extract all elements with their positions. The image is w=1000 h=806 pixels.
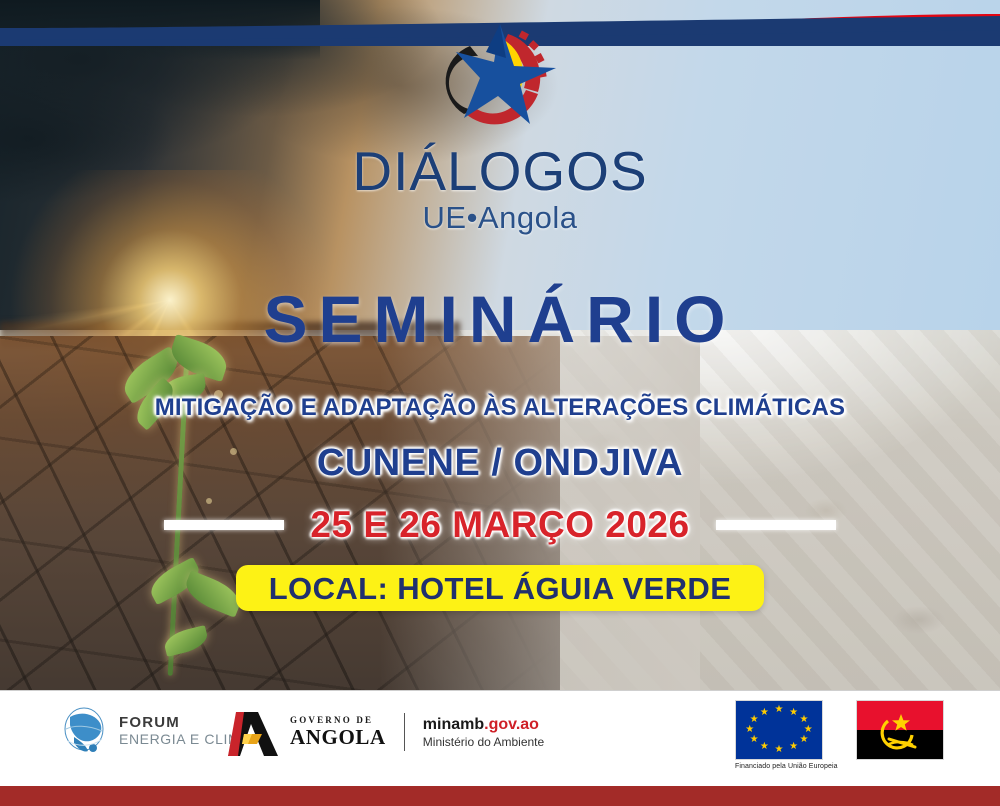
footer-bottom-bar	[0, 786, 1000, 806]
eu-star: ★	[750, 735, 759, 745]
eu-star: ★	[760, 708, 769, 718]
eu-star: ★	[745, 725, 754, 735]
forum-energia-clima-logo: FORUM ENERGIA E CLIMA	[60, 703, 250, 759]
angola-flag-block	[856, 700, 944, 760]
funder-flags: ★ ★ ★ ★ ★ ★ ★ ★ ★ ★ ★ ★ Financiado pela …	[735, 700, 944, 770]
governo-de-angola-logo: GOVERNO DE ANGOLA minamb.gov.ao Ministér…	[228, 704, 544, 760]
date-rule-left	[164, 520, 284, 530]
bokeh-dot	[206, 498, 212, 504]
minamb-ministry: Ministério do Ambiente	[423, 735, 544, 750]
minamb-site-name: minamb	[423, 716, 484, 733]
minamb-site-domain: .gov.ao	[484, 716, 539, 733]
footer: FORUM ENERGIA E CLIMA GOVERNO DE ANGOLA	[0, 690, 1000, 806]
gov-name: ANGOLA	[290, 726, 386, 748]
venue-text: LOCAL: HOTEL ÁGUIA VERDE	[269, 573, 732, 604]
poster: DIÁLOGOS UE•Angola SEMINÁRIO MITIGAÇÃO E…	[0, 0, 1000, 806]
angola-emblem	[857, 701, 943, 759]
eu-star: ★	[789, 708, 798, 718]
eu-star: ★	[799, 735, 808, 745]
gov-divider	[404, 713, 405, 751]
footer-logos: FORUM ENERGIA E CLIMA GOVERNO DE ANGOLA	[0, 690, 1000, 782]
dialogos-ue-angola-logo	[434, 18, 566, 142]
event-date: 25 E 26 MARÇO 2026	[310, 506, 689, 543]
headline-subtitle: MITIGAÇÃO E ADAPTAÇÃO ÀS ALTERAÇÕES CLIM…	[0, 396, 1000, 420]
gov-text: GOVERNO DE ANGOLA	[290, 716, 386, 747]
minamb-site: minamb.gov.ao	[423, 715, 544, 735]
angola-a-emblem	[228, 704, 282, 760]
eu-star: ★	[775, 705, 784, 715]
brand-subtitle: UE•Angola	[0, 202, 1000, 233]
date-row: 25 E 26 MARÇO 2026	[0, 506, 1000, 543]
date-rule-right	[716, 520, 836, 530]
eu-flag: ★ ★ ★ ★ ★ ★ ★ ★ ★ ★ ★ ★	[735, 700, 823, 760]
page-title: SEMINÁRIO	[0, 286, 1000, 352]
eu-flag-caption: Financiado pela União Europeia	[735, 763, 838, 770]
headline-city: CUNENE / ONDJIVA	[0, 444, 1000, 482]
logo-star-shade	[486, 24, 506, 58]
venue-banner: LOCAL: HOTEL ÁGUIA VERDE	[236, 565, 764, 611]
angola-flag	[856, 700, 944, 760]
eu-star: ★	[775, 745, 784, 755]
globe-icon	[60, 703, 110, 759]
minamb-block: minamb.gov.ao Ministério do Ambiente	[423, 715, 544, 750]
brand-block: DIÁLOGOS UE•Angola	[0, 18, 1000, 233]
eu-star: ★	[750, 715, 759, 725]
eu-star: ★	[760, 742, 769, 752]
brand-wordmark: DIÁLOGOS	[0, 144, 1000, 199]
eu-star: ★	[789, 742, 798, 752]
eu-flag-block: ★ ★ ★ ★ ★ ★ ★ ★ ★ ★ ★ ★ Financiado pela …	[735, 700, 838, 770]
